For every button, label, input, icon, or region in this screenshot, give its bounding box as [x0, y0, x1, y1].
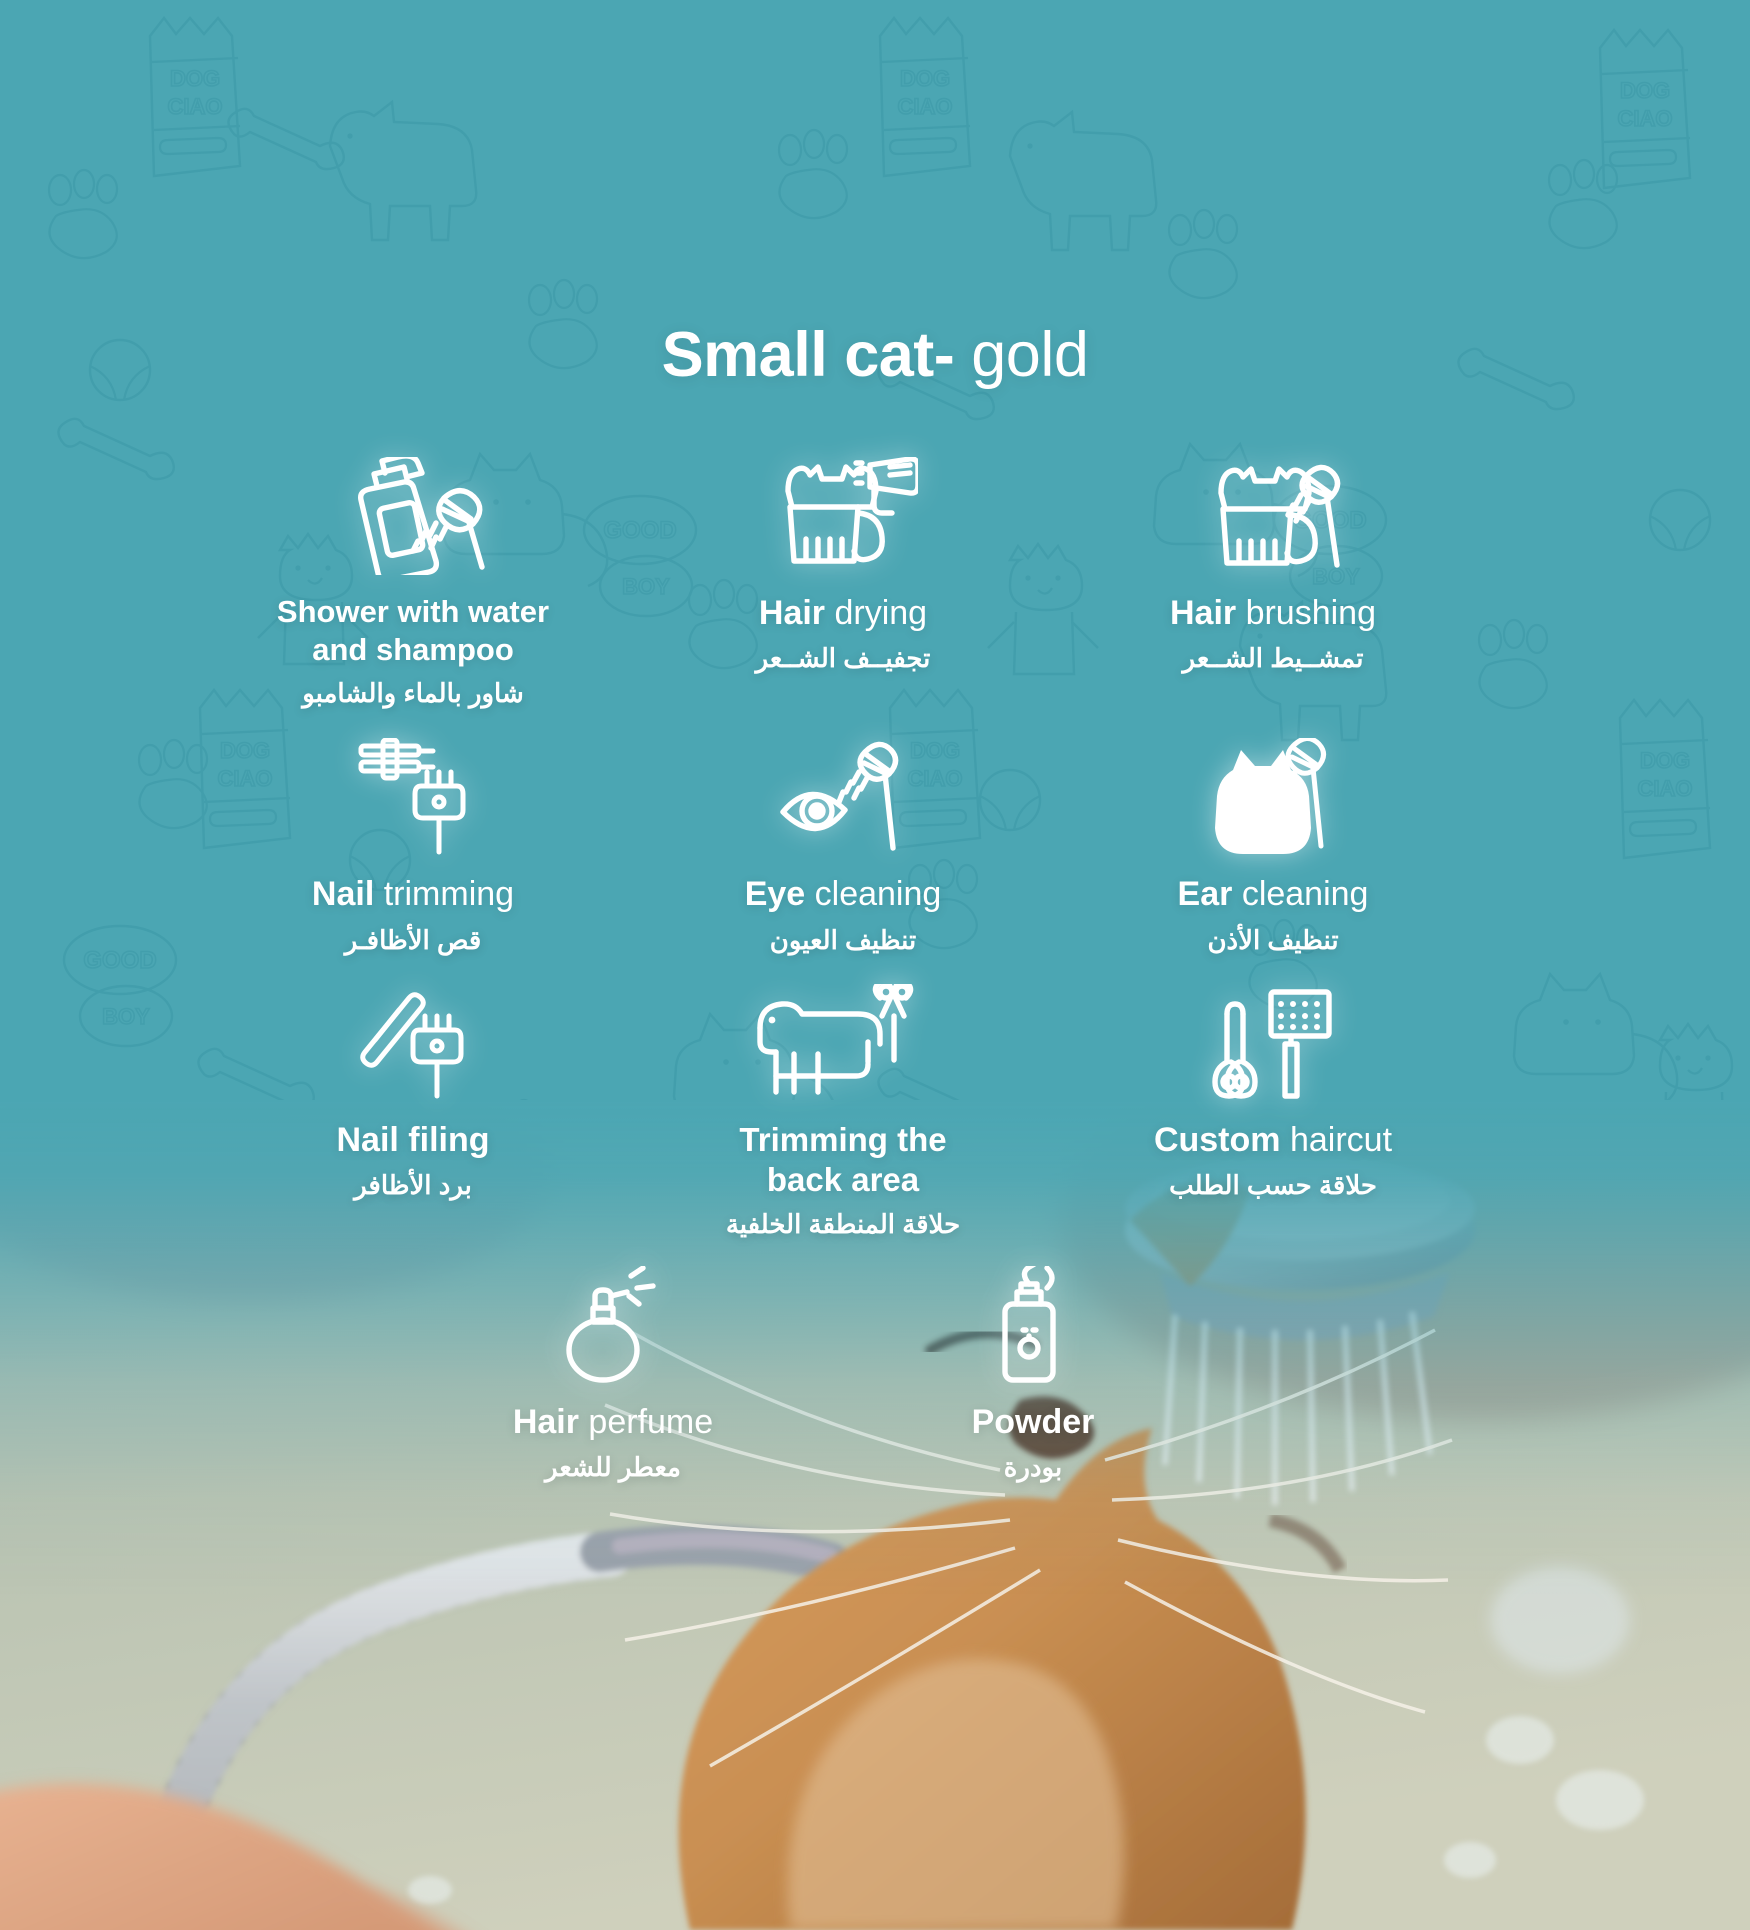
- perfume-bottle-icon: [557, 1264, 669, 1384]
- service-item-custom-haircut[interactable]: Custom haircut حلاقة حسب الطلب: [1058, 982, 1488, 1242]
- service-item-powder[interactable]: Powder بودرة: [823, 1264, 1243, 1485]
- services-grid: Shower with water and shampoo شاور بالما…: [198, 455, 1488, 1485]
- service-label-ar: معطر للشعر: [545, 1451, 681, 1485]
- service-label-en: Hair perfume: [513, 1402, 713, 1443]
- service-label-en: Powder: [972, 1402, 1095, 1443]
- nail-clipper-paw-icon: [353, 736, 473, 856]
- title-regular: gold: [971, 320, 1088, 390]
- powder-bottle-icon: [977, 1264, 1089, 1384]
- scissors-comb-icon: [1209, 982, 1337, 1102]
- service-label-en: Hair brushing: [1170, 593, 1376, 634]
- service-label-ar: تمشــيط الشــعر: [1183, 642, 1364, 676]
- service-label-en: Nail trimming: [312, 874, 514, 915]
- service-label-en-bold: Hair: [759, 594, 825, 632]
- service-item-shower[interactable]: Shower with water and shampoo شاور بالما…: [198, 455, 628, 710]
- service-item-hair-brushing[interactable]: Hair brushing تمشــيط الشــعر: [1058, 455, 1488, 710]
- service-label-ar: تجفيــف الشــعر: [756, 642, 931, 676]
- shampoo-bottle-shower-icon: [340, 455, 486, 575]
- service-item-eye-cleaning[interactable]: Eye cleaning تنظيف العيون: [628, 736, 1058, 957]
- service-label-en: Shower with water and shampoo: [277, 593, 549, 669]
- service-label-en-regular: perfume: [588, 1403, 713, 1441]
- services-row-2: Nail trimming قص الأظافـر: [198, 736, 1488, 957]
- service-label-ar: برد الأظافر: [354, 1169, 472, 1203]
- service-label-en-line2: back area: [767, 1161, 919, 1198]
- service-label-en-bold: Ear: [1178, 875, 1233, 913]
- service-label-ar: تنظيف العيون: [770, 924, 916, 958]
- poster-content: Small cat- gold: [0, 0, 1750, 1930]
- service-label-en: Ear cleaning: [1178, 874, 1369, 915]
- service-label-en-bold: Hair: [1170, 594, 1236, 632]
- service-label-en-bold: Custom: [1154, 1121, 1281, 1159]
- services-row-1: Shower with water and shampoo شاور بالما…: [198, 455, 1488, 710]
- service-label-en-line1: Shower with water: [277, 594, 549, 629]
- service-label-en-regular: brushing: [1246, 594, 1376, 632]
- service-label-en-bold: Hair: [513, 1403, 579, 1441]
- service-label-en-bold: Nail: [312, 875, 374, 913]
- service-label-en-regular: drying: [834, 594, 927, 632]
- services-row-3: Nail filing برد الأظافر: [198, 982, 1488, 1242]
- service-label-ar: حلاقة حسب الطلب: [1169, 1169, 1377, 1203]
- service-label-ar: حلاقة المنطقة الخلفية: [726, 1208, 960, 1242]
- eye-spray-icon: [777, 736, 909, 856]
- promo-poster: DOG CIAO: [0, 0, 1750, 1930]
- service-label-en: Hair drying: [759, 593, 927, 634]
- service-label-en-regular: cleaning: [1242, 875, 1369, 913]
- service-label-ar: تنظيف الأذن: [1207, 924, 1338, 958]
- service-label-ar: بودرة: [1004, 1451, 1062, 1485]
- dog-brush-spray-icon: [1203, 455, 1343, 575]
- service-label-en: Nail filing: [337, 1120, 490, 1161]
- service-label-en-regular: cleaning: [815, 875, 942, 913]
- cat-head-spray-icon: [1207, 736, 1339, 856]
- service-item-hair-drying[interactable]: Hair drying تجفيــف الشــعر: [628, 455, 1058, 710]
- service-label-en-regular: trimming: [384, 875, 514, 913]
- service-item-ear-cleaning[interactable]: Ear cleaning تنظيف الأذن: [1058, 736, 1488, 957]
- service-label-en: Trimming the back area: [739, 1120, 946, 1201]
- service-label-en: Eye cleaning: [745, 874, 942, 915]
- service-label-en-bold: Nail filing: [337, 1121, 490, 1159]
- dog-hairdryer-icon: [768, 455, 918, 575]
- service-label-ar: قص الأظافـر: [345, 924, 482, 958]
- services-row-4: Hair perfume معطر للشعر: [198, 1264, 1488, 1485]
- service-item-nail-trimming[interactable]: Nail trimming قص الأظافـر: [198, 736, 628, 957]
- service-label-en-bold: Eye: [745, 875, 806, 913]
- service-label-en-line2: and shampoo: [312, 632, 514, 667]
- title-bold: Small cat-: [662, 320, 955, 390]
- page-title: Small cat- gold: [0, 322, 1750, 388]
- service-label-en-line1: Trimming the: [739, 1121, 946, 1158]
- service-label-en-regular: haircut: [1290, 1121, 1392, 1159]
- service-item-nail-filing[interactable]: Nail filing برد الأظافر: [198, 982, 628, 1242]
- nail-file-paw-icon: [353, 982, 473, 1102]
- service-label-en-bold: Powder: [972, 1403, 1095, 1441]
- service-label-en: Custom haircut: [1154, 1120, 1392, 1161]
- service-item-hair-perfume[interactable]: Hair perfume معطر للشعر: [403, 1264, 823, 1485]
- dog-scissors-icon: [750, 982, 936, 1102]
- service-label-ar: شاور بالماء والشامبو: [302, 677, 524, 711]
- service-item-back-area-trimming[interactable]: Trimming the back area حلاقة المنطقة الخ…: [628, 982, 1058, 1242]
